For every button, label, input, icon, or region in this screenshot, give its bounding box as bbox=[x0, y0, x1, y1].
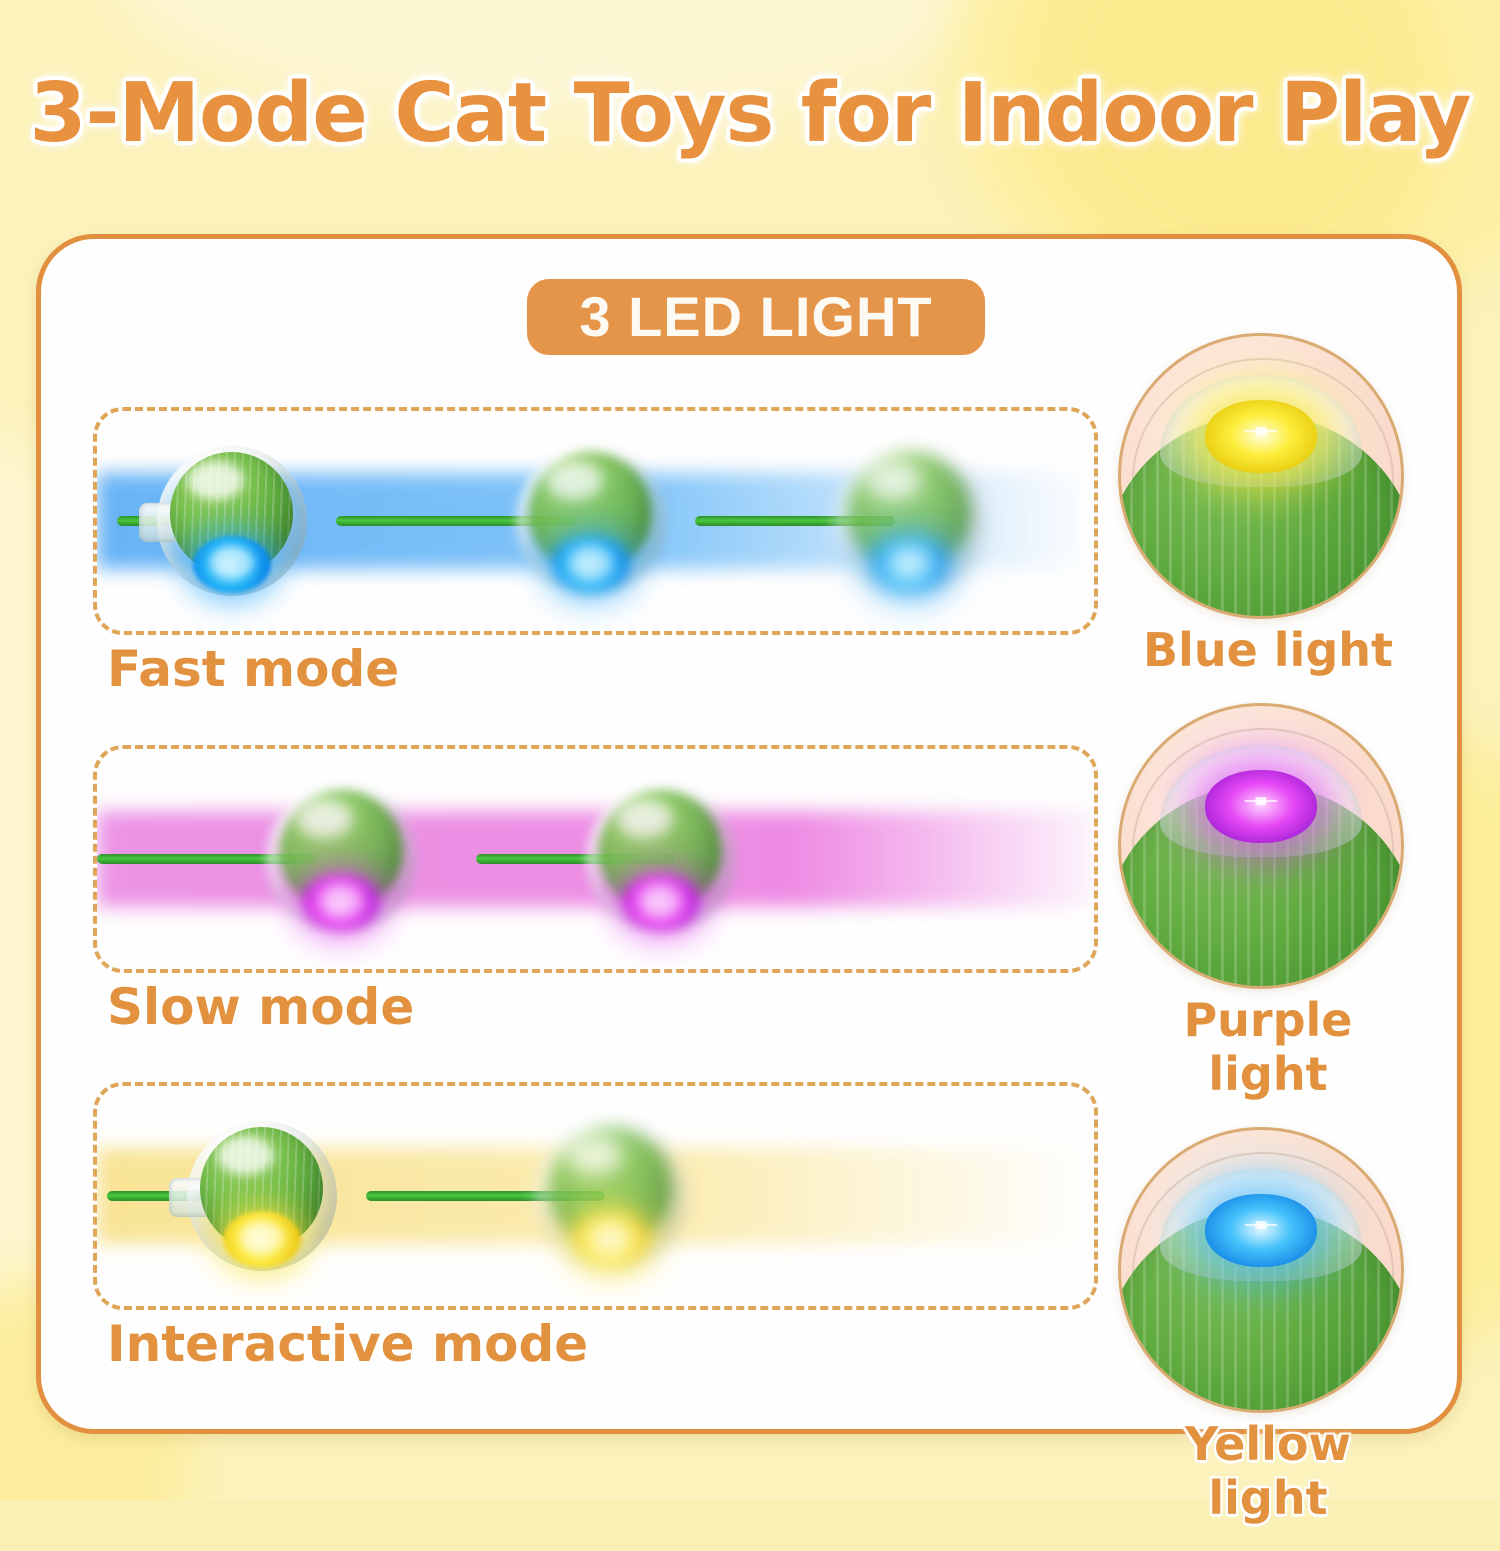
toy-ball bbox=[516, 446, 666, 596]
led-label-purple: Purple light bbox=[1118, 993, 1418, 1101]
ball-led-blue-icon bbox=[552, 536, 630, 593]
led-item-purple: Purple light bbox=[1118, 703, 1418, 1101]
mode-label-interactive: Interactive mode bbox=[107, 1316, 1098, 1374]
ball-gloss bbox=[616, 799, 673, 838]
toy-ball bbox=[536, 1121, 686, 1271]
toy-ball bbox=[266, 784, 416, 934]
mode-row-interactive: Interactive mode bbox=[93, 1082, 1098, 1374]
toy-ball bbox=[586, 784, 736, 934]
content-card: 3 LED LIGHT bbox=[36, 234, 1462, 1434]
led-label-yellow: Yellow light bbox=[1118, 1417, 1418, 1525]
led-label-blue: Blue light bbox=[1118, 623, 1418, 677]
ball-gloss bbox=[217, 1136, 274, 1175]
toy-ball bbox=[157, 446, 307, 596]
ball-gloss bbox=[566, 1136, 623, 1175]
mode-label-fast: Fast mode bbox=[107, 641, 1098, 699]
toy-ball bbox=[835, 446, 985, 596]
led-closeup-photo-blue bbox=[1118, 333, 1404, 619]
mode-label-slow: Slow mode bbox=[107, 979, 1098, 1037]
toy-ball bbox=[187, 1121, 337, 1271]
ball-led-yellow-icon bbox=[223, 1211, 301, 1268]
led-colors-column: Blue light Purple light Ye bbox=[1118, 333, 1418, 1551]
ball-led-purple-icon bbox=[622, 874, 700, 931]
led-count-badge: 3 LED LIGHT bbox=[527, 279, 985, 355]
led-core-purple-icon bbox=[1205, 770, 1317, 843]
led-core-blue-icon bbox=[1205, 1194, 1317, 1267]
ball-gloss bbox=[546, 461, 603, 500]
ball-led-blue-icon bbox=[871, 536, 949, 593]
ball-gloss bbox=[865, 461, 922, 500]
modes-column: Fast mode S bbox=[93, 407, 1098, 1374]
mode-illustration-slow bbox=[93, 745, 1098, 973]
ball-led-yellow-icon bbox=[572, 1211, 650, 1268]
mode-row-slow: Slow mode bbox=[93, 745, 1098, 1037]
mode-illustration-interactive bbox=[93, 1082, 1098, 1310]
ball-gloss bbox=[187, 461, 244, 500]
led-cross-icon bbox=[1255, 427, 1266, 436]
mode-illustration-fast bbox=[93, 407, 1098, 635]
ball-led-purple-icon bbox=[302, 874, 380, 931]
led-cross-icon bbox=[1255, 1221, 1266, 1230]
ball-gloss bbox=[296, 799, 353, 838]
led-item-yellow: Yellow light bbox=[1118, 1127, 1418, 1525]
led-closeup-photo-yellow bbox=[1118, 1127, 1404, 1413]
page-title: 3-Mode Cat Toys for Indoor Play bbox=[0, 66, 1500, 161]
led-count-badge-label: 3 LED LIGHT bbox=[579, 289, 932, 345]
led-core-yellow-icon bbox=[1205, 400, 1317, 473]
led-cross-icon bbox=[1255, 797, 1266, 806]
led-item-blue: Blue light bbox=[1118, 333, 1418, 677]
ball-led-blue-icon bbox=[193, 536, 271, 593]
mode-row-fast: Fast mode bbox=[93, 407, 1098, 699]
led-closeup-photo-purple bbox=[1118, 703, 1404, 989]
